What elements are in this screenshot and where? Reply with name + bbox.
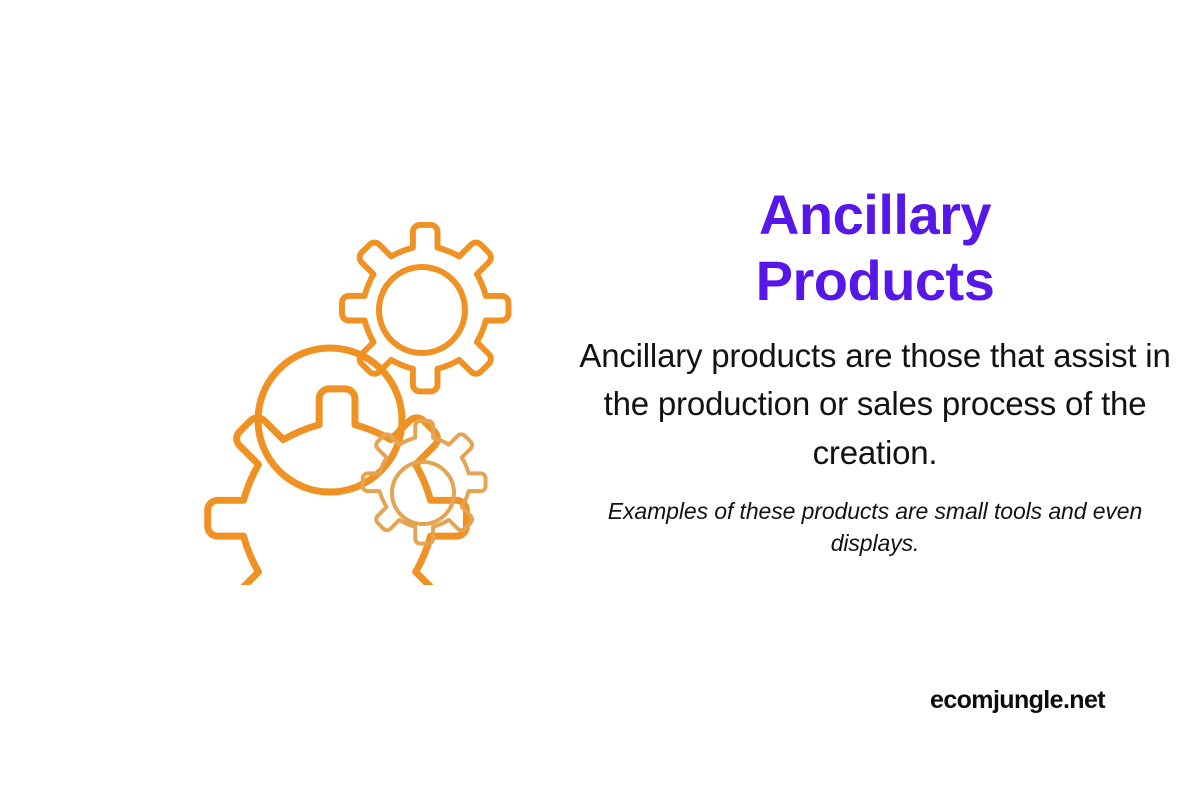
page-title: Ancillary Products bbox=[575, 182, 1175, 314]
examples-note: Examples of these products are small too… bbox=[575, 495, 1175, 560]
slide-canvas: Ancillary Products Ancillary products ar… bbox=[0, 0, 1200, 800]
top-right-gear-icon bbox=[342, 225, 508, 391]
text-content: Ancillary Products Ancillary products ar… bbox=[575, 182, 1175, 560]
brand-wordmark: ecomjungle.net bbox=[575, 686, 1105, 715]
body-paragraph: Ancillary products are those that assist… bbox=[575, 332, 1175, 477]
large-gear-icon bbox=[208, 348, 467, 585]
three-gears-illustration bbox=[140, 205, 520, 585]
